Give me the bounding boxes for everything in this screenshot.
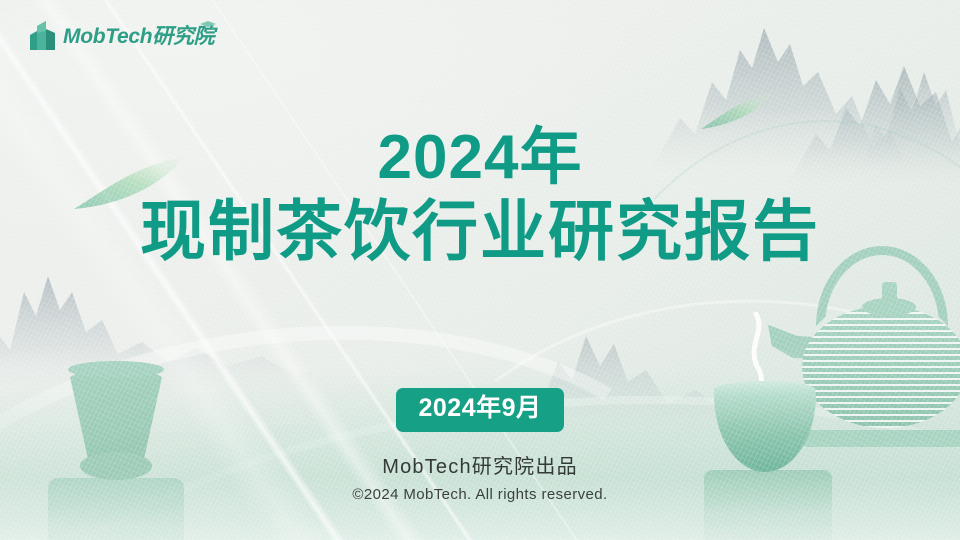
title-block: 2024年 现制茶饮行业研究报告 xyxy=(0,126,960,271)
date-badge-row: 2024年9月 xyxy=(0,388,960,432)
footer-producer: MobTech研究院出品 xyxy=(0,452,960,482)
title-year: 2024年 xyxy=(0,126,960,189)
report-cover-slide: MobTech研究院 2024年 现制茶饮行业研究报告 2024年9月 MobT… xyxy=(0,0,960,540)
title-main: 现制茶饮行业研究报告 xyxy=(0,193,960,271)
date-badge: 2024年9月 xyxy=(396,388,563,432)
brand-logo-text: MobTech研究院 xyxy=(63,20,214,50)
graduation-cap-icon xyxy=(199,17,217,27)
footer-copyright: ©2024 MobTech. All rights reserved. xyxy=(0,486,960,503)
bar-chart-building-icon xyxy=(30,20,56,50)
footer-block: MobTech研究院出品 ©2024 MobTech. All rights r… xyxy=(0,452,960,503)
brand-logo[interactable]: MobTech研究院 xyxy=(30,20,214,50)
